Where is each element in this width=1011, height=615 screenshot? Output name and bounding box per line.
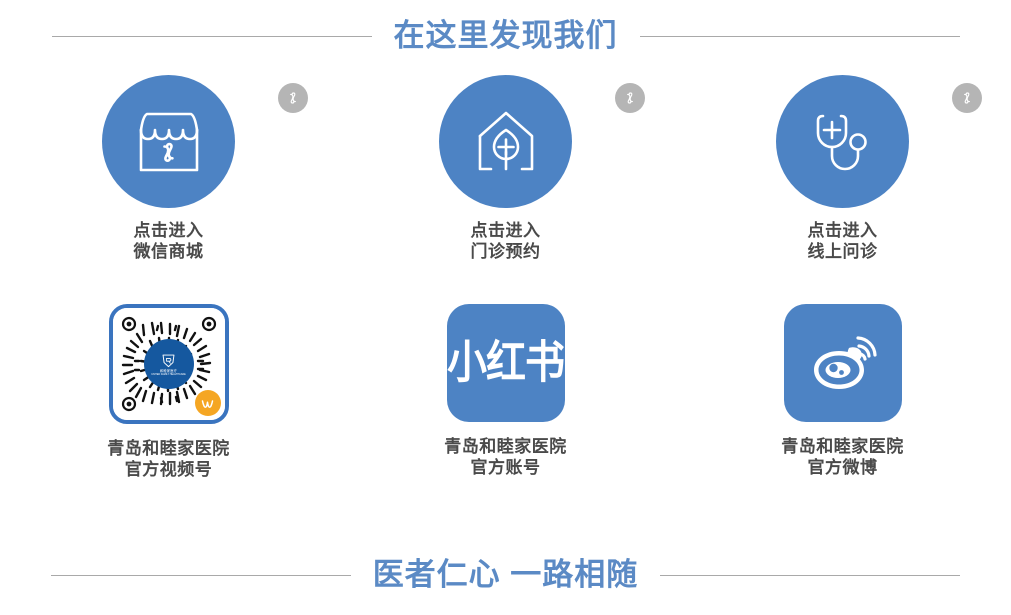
xiaohongshu-logo-icon[interactable]: 小红书: [447, 304, 565, 422]
clinic-house-plus-icon[interactable]: [439, 75, 572, 208]
caption-line-1: 点击进入: [471, 220, 541, 241]
divider-right: [660, 575, 960, 576]
caption-line-2: 微信商城: [134, 241, 204, 262]
entry-online-consultation[interactable]: 点击进入 线上问诊: [674, 75, 1011, 262]
weibo-logo-icon[interactable]: [784, 304, 902, 422]
caption-line-2: 官方账号: [444, 457, 567, 478]
wechat-miniprogram-badge-icon[interactable]: [615, 83, 645, 113]
caption-line-2: 官方微博: [781, 457, 904, 478]
wechat-miniprogram-badge-icon[interactable]: [952, 83, 982, 113]
page-title: 在这里发现我们: [394, 14, 618, 58]
entry-caption: 青岛和睦家医院 官方账号: [444, 436, 567, 478]
entry-caption: 点击进入 门诊预约: [471, 220, 541, 262]
caption-line-1: 青岛和睦家医院: [781, 436, 904, 457]
entry-caption: 点击进入 微信商城: [134, 220, 204, 262]
entry-caption: 点击进入 线上问诊: [808, 220, 878, 262]
entry-caption: 青岛和睦家医院 官方视频号: [107, 438, 230, 480]
caption-line-1: 点击进入: [134, 220, 204, 241]
footer-title: 医者仁心 一路相随: [373, 553, 639, 597]
xiaohongshu-logo-text: 小红书: [447, 338, 564, 387]
entry-wechat-shop[interactable]: 点击进入 微信商城: [0, 75, 337, 262]
entry-row-first: 点击进入 微信商城: [0, 75, 1011, 262]
qr-center-logo: 和睦家医疗 UNITED FAMILY HEALTHCARE: [144, 339, 194, 389]
entry-outpatient-appointment[interactable]: 点击进入 门诊预约: [337, 75, 674, 262]
stethoscope-plus-icon[interactable]: [776, 75, 909, 208]
section-header-top: 在这里发现我们: [0, 14, 1011, 58]
section-header-bottom: 医者仁心 一路相随: [0, 553, 1011, 597]
divider-left: [52, 36, 372, 37]
entry-wechat-channels[interactable]: 和睦家医疗 UNITED FAMILY HEALTHCARE 青岛和睦家医院 官…: [0, 304, 337, 480]
caption-line-2: 线上问诊: [808, 241, 878, 262]
entry-caption: 青岛和睦家医院 官方微博: [781, 436, 904, 478]
entry-weibo[interactable]: 青岛和睦家医院 官方微博: [674, 304, 1011, 480]
promo-page: 在这里发现我们: [0, 0, 1011, 615]
wechat-channels-qrcode[interactable]: 和睦家医疗 UNITED FAMILY HEALTHCARE: [109, 304, 229, 424]
divider-left: [51, 575, 351, 576]
wechat-miniprogram-badge-icon[interactable]: [278, 83, 308, 113]
qr-logo-subtext: UNITED FAMILY HEALTHCARE: [151, 373, 185, 376]
divider-right: [640, 36, 960, 37]
caption-line-1: 点击进入: [808, 220, 878, 241]
entry-xiaohongshu[interactable]: 小红书 青岛和睦家医院 官方账号: [337, 304, 674, 480]
caption-line-2: 门诊预约: [471, 241, 541, 262]
wechat-channels-badge-icon: [195, 390, 221, 416]
entry-grid: 点击进入 微信商城: [0, 75, 1011, 480]
caption-line-1: 青岛和睦家医院: [107, 438, 230, 459]
caption-line-2: 官方视频号: [107, 459, 230, 480]
storefront-icon[interactable]: [102, 75, 235, 208]
entry-row-second: 和睦家医疗 UNITED FAMILY HEALTHCARE 青岛和睦家医院 官…: [0, 304, 1011, 480]
caption-line-1: 青岛和睦家医院: [444, 436, 567, 457]
